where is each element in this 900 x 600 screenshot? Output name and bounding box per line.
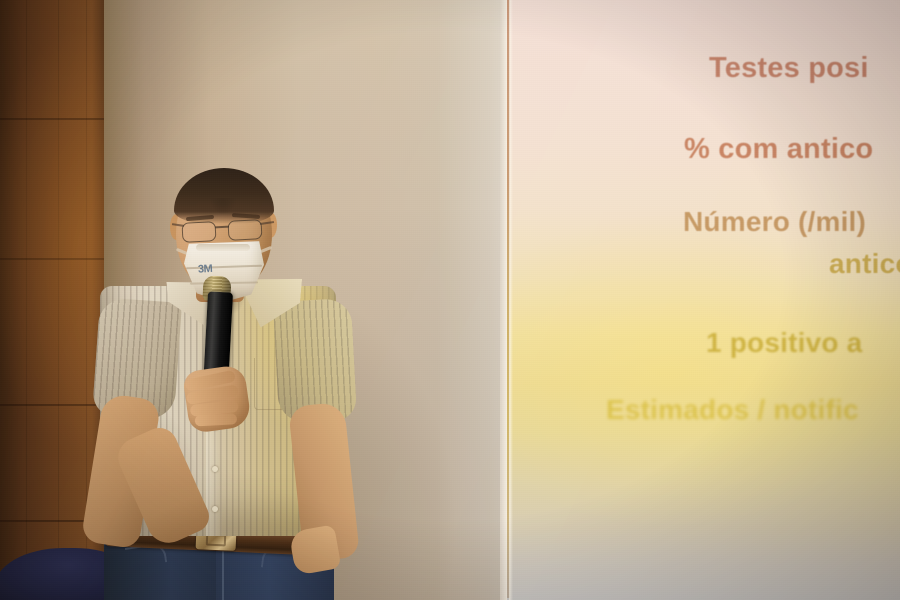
glasses-lens-right [227, 219, 262, 241]
shirt-button [212, 466, 218, 472]
male-presenter: 3M [0, 0, 900, 600]
glasses-lens-left [181, 221, 216, 243]
shirt-button [212, 506, 218, 512]
mask-nose-clip [196, 244, 250, 251]
mask-brand-logo-3m: 3M [198, 261, 223, 276]
hairline-widows-peak [210, 198, 236, 214]
presentation-photo: Testes posi % com antico Número (/mil) a… [0, 0, 900, 600]
jeans-seam [222, 545, 224, 600]
finger [195, 413, 238, 426]
